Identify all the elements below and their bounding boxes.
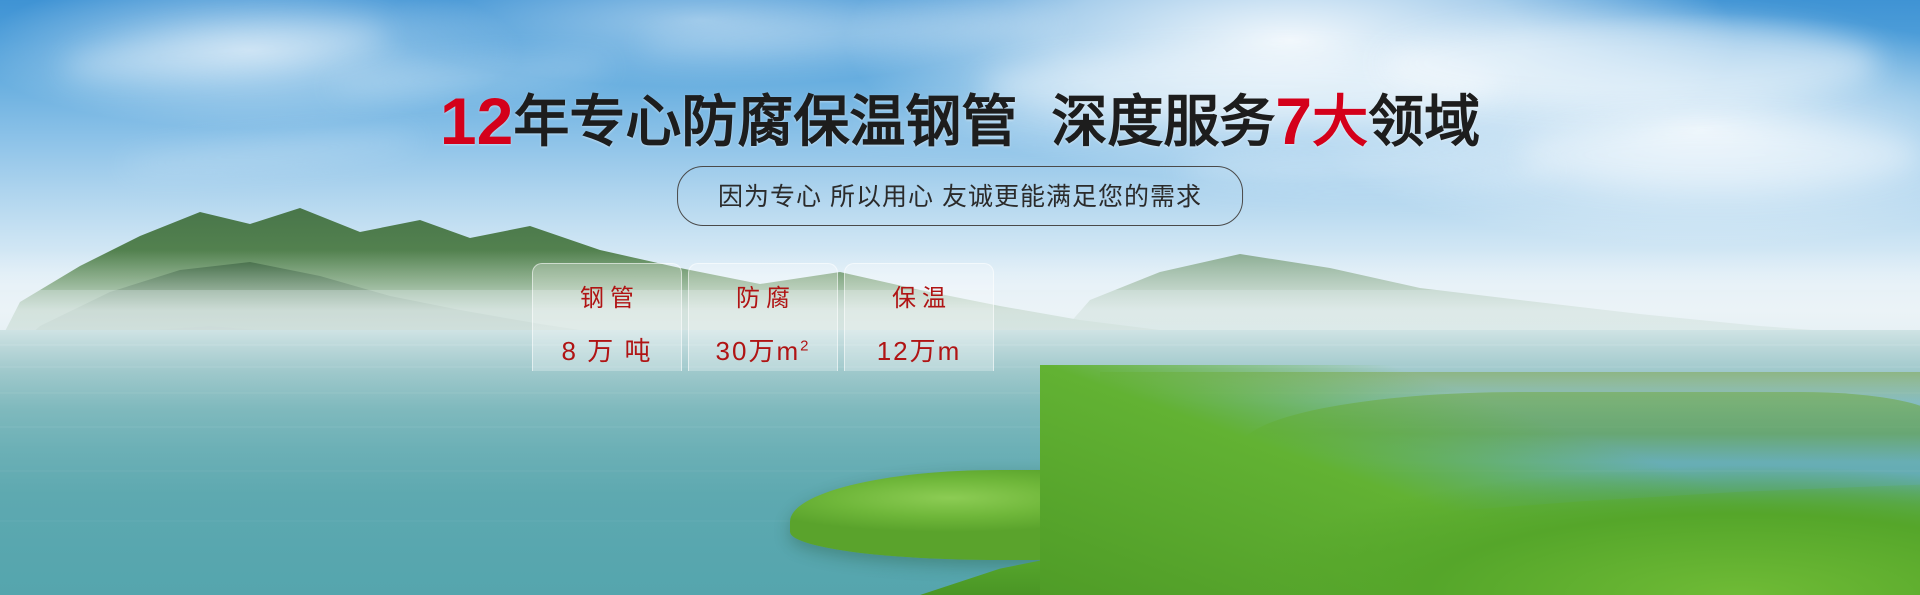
stat-card-value: 30万m2 — [701, 331, 825, 368]
stat-card-insulation: 保温 12万m — [844, 263, 994, 371]
headline-text-primary: 年专心防腐保温钢管 — [513, 90, 1017, 153]
banner-content: 12年专心防腐保温钢管深度服务7大领域 因为专心 所以用心 友诚更能满足您的需求… — [0, 0, 1920, 595]
stat-card-value: 8 万 吨 — [545, 331, 669, 368]
stat-card-title: 防腐 — [701, 278, 825, 313]
stat-card-title: 保温 — [857, 278, 981, 313]
subtitle-pill: 因为专心 所以用心 友诚更能满足您的需求 — [677, 166, 1243, 226]
hero-banner: 12年专心防腐保温钢管深度服务7大领域 因为专心 所以用心 友诚更能满足您的需求… — [0, 0, 1920, 595]
page-title: 12年专心防腐保温钢管深度服务7大领域 — [0, 88, 1920, 154]
headline-red-char: 大 — [1312, 90, 1368, 153]
stat-card-group: 钢管 8 万 吨 防腐 30万m2 保温 12万m — [532, 263, 994, 371]
headline-number-fields: 7 — [1275, 84, 1312, 158]
stat-card-title: 钢管 — [545, 278, 669, 313]
headline-number-years: 12 — [440, 84, 513, 158]
headline-text-secondary: 深度服务 — [1051, 90, 1275, 153]
stat-card-anticorrosion: 防腐 30万m2 — [688, 263, 838, 371]
stat-card-value: 12万m — [857, 331, 981, 368]
stat-card-value-superscript: 2 — [800, 337, 810, 354]
stat-card-steel-pipe: 钢管 8 万 吨 — [532, 263, 682, 371]
headline-text-tertiary: 领域 — [1368, 90, 1480, 153]
